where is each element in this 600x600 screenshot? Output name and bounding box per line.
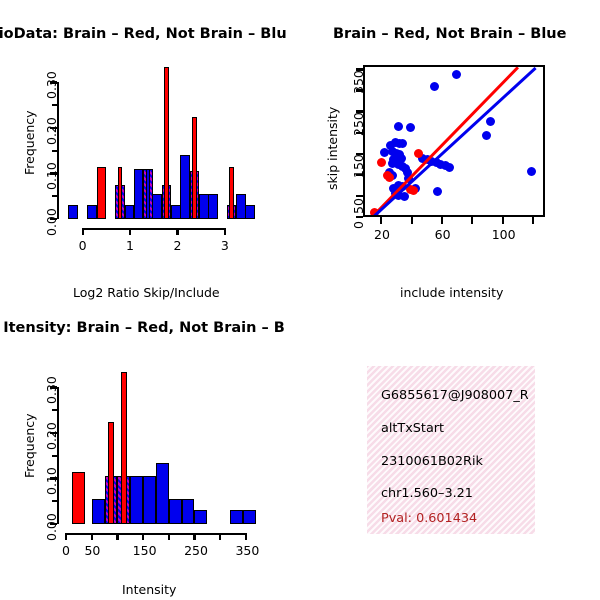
x-tick — [65, 533, 67, 540]
x-tick — [176, 228, 178, 235]
ratio-histogram-ylabel: Frequency — [22, 110, 37, 175]
x-tick-label: 150 — [133, 543, 157, 558]
ratio-histogram-plot-area — [66, 62, 251, 219]
hist-bar-blue — [171, 205, 180, 219]
y-tick-label: 0.10 — [44, 163, 59, 191]
scatter-point — [406, 123, 415, 132]
scatter-point — [430, 82, 439, 91]
scatter-x-tick — [502, 217, 504, 224]
scatter-point — [385, 173, 394, 182]
x-axis-line — [83, 228, 225, 230]
hist-bar-blue — [243, 510, 256, 524]
hist-bar-blue — [134, 169, 143, 219]
intensity-histogram-xlabel: Intensity — [122, 582, 176, 597]
scatter-title: Brain – Red, Not Brain – Blue — [333, 26, 566, 42]
hist-bar-blue — [194, 510, 207, 524]
x-tick — [91, 533, 93, 540]
y-tick-label: 0.30 — [44, 72, 59, 100]
x-tick — [168, 533, 170, 540]
hist-bar-blue — [180, 155, 189, 219]
scatter-xlabel: include intensity — [400, 285, 503, 300]
x-tick — [116, 533, 118, 540]
scatter-x-tick — [532, 217, 534, 224]
x-tick — [224, 228, 226, 235]
y-tick-label: 0.10 — [44, 468, 59, 496]
y-tick — [52, 500, 57, 502]
hist-bar-blue — [87, 205, 96, 219]
hist-bar-blue — [169, 499, 182, 524]
hist-bar-blue — [146, 169, 151, 219]
hist-bar-red — [97, 167, 106, 219]
scatter-point — [445, 163, 454, 172]
gene-info-box: G6855617@J908007_R altTxStart 2310061B02… — [367, 366, 535, 534]
scatter-point — [377, 158, 386, 167]
hist-bar-blue — [143, 476, 156, 524]
x-tick — [245, 533, 247, 540]
scatter-point — [482, 131, 491, 140]
info-pvalue: Pval: 0.601434 — [381, 511, 477, 526]
y-tick-label: 0.20 — [44, 117, 59, 145]
y-axis-line — [57, 82, 59, 219]
scatter-x-tick — [471, 217, 473, 224]
scatter-y-tick-label: 350 — [351, 70, 366, 94]
scatter-ylabel: skip intensity — [325, 107, 340, 190]
scatter-point — [398, 139, 407, 148]
info-gene-name: 2310061B02Rik — [381, 454, 483, 469]
hist-bar-blue — [125, 205, 134, 219]
intensity-histogram-plot-area — [66, 367, 251, 524]
scatter-point — [527, 167, 536, 176]
scatter-y-tick-label: 0 — [351, 221, 366, 229]
scatter-x-tick — [411, 217, 413, 224]
hist-bar-blue — [130, 476, 143, 524]
scatter-point — [452, 70, 461, 79]
x-tick-label: 3 — [221, 238, 229, 253]
hist-bar-blue — [245, 205, 254, 219]
x-tick-label: 0 — [62, 543, 70, 558]
scatter-y-tick-label: 250 — [351, 112, 366, 136]
x-tick-label: 1 — [126, 238, 134, 253]
y-tick — [52, 150, 57, 152]
y-tick-label: 0.30 — [44, 377, 59, 405]
scatter-x-tick — [441, 217, 443, 224]
x-tick-label: 250 — [184, 543, 208, 558]
x-tick — [142, 533, 144, 540]
hist-bar-red — [108, 422, 114, 524]
y-tick — [52, 455, 57, 457]
y-tick-label: 0.00 — [44, 208, 59, 236]
scatter-x-tick-label: 100 — [492, 227, 516, 242]
y-tick — [52, 409, 57, 411]
scatter-point — [433, 187, 442, 196]
scatter-y-tick-label: 50 — [351, 198, 366, 214]
y-tick — [52, 195, 57, 197]
hist-bar-blue — [236, 194, 245, 219]
y-tick — [52, 104, 57, 106]
scatter-y-tick — [356, 195, 363, 197]
x-tick — [82, 228, 84, 235]
hist-bar-blue — [156, 463, 169, 524]
x-tick — [219, 533, 221, 540]
hist-bar-red — [72, 472, 85, 524]
hist-bar-red — [118, 167, 123, 219]
x-tick-label: 0 — [79, 238, 87, 253]
hist-bar-red — [164, 67, 169, 219]
scatter-x-tick-label: 20 — [374, 227, 390, 242]
x-tick-label: 350 — [235, 543, 259, 558]
hist-bar-blue — [152, 194, 161, 219]
hist-bar-blue — [230, 510, 243, 524]
y-tick-label: 0.20 — [44, 422, 59, 450]
x-tick — [193, 533, 195, 540]
ratio-histogram-title: atioData: Brain – Red, Not Brain – Blu — [0, 26, 287, 42]
scatter-plot-frame — [363, 65, 545, 217]
scatter-point — [394, 122, 403, 131]
scatter-y-tick — [356, 216, 363, 218]
info-probe-id: G6855617@J908007_R — [381, 388, 529, 403]
hist-bar-red — [229, 167, 234, 219]
info-event-type: altTxStart — [381, 421, 444, 436]
scatter-x-tick — [380, 217, 382, 224]
intensity-histogram-title: ne Itensity: Brain – Red, Not Brain – B — [0, 320, 285, 336]
hist-bar-blue — [68, 205, 77, 219]
x-tick-label: 2 — [173, 238, 181, 253]
y-tick-label: 0.00 — [44, 513, 59, 541]
x-tick — [129, 228, 131, 235]
scatter-point — [414, 149, 423, 158]
scatter-point — [409, 186, 418, 195]
hist-bar-blue — [92, 499, 105, 524]
hist-bar-red — [192, 117, 197, 219]
x-tick-label: 50 — [84, 543, 100, 558]
hist-bar-red — [121, 372, 127, 524]
scatter-point — [486, 117, 495, 126]
ratio-histogram-xlabel: Log2 Ratio Skip/Include — [73, 285, 220, 300]
scatter-y-tick-label: 150 — [351, 154, 366, 178]
info-locus: chr1.560–3.21 — [381, 486, 473, 501]
hist-bar-blue — [208, 194, 217, 219]
hist-bar-blue — [182, 499, 195, 524]
hist-bar-blue — [199, 194, 208, 219]
y-axis-line — [57, 387, 59, 524]
scatter-x-tick-label: 60 — [435, 227, 451, 242]
intensity-histogram-ylabel: Frequency — [22, 413, 37, 478]
